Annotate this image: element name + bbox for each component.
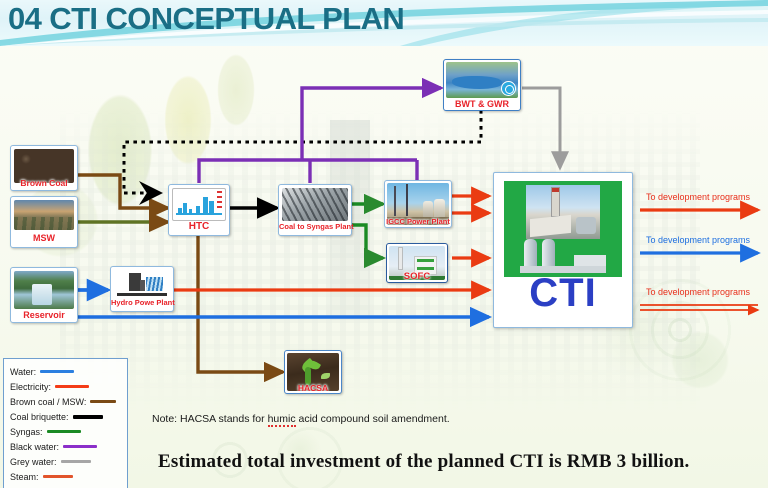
output-label-2: To development programs: [646, 235, 750, 245]
node-hydro-power-plant[interactable]: Hydro Powe Plant: [110, 266, 174, 312]
legend-item-black-water: Black water:: [10, 439, 121, 454]
node-label-hydro-power-plant: Hydro Powe Plant: [111, 298, 173, 307]
hydro-power-plant-icon: [114, 270, 170, 298]
gasifier-photo: [282, 188, 348, 221]
node-coal-to-syngas-plant[interactable]: Coal to Syngas Plant: [278, 184, 352, 236]
node-brown-coal[interactable]: Brown Coal: [10, 145, 78, 191]
legend-swatch-black-water: [63, 445, 97, 448]
water-recycle-badge-icon: [501, 81, 516, 96]
node-label-msw: MSW: [11, 233, 77, 243]
legend-swatch-water: [40, 370, 74, 373]
node-hacsa[interactable]: HACSA: [284, 350, 342, 394]
legend-swatch-syngas: [47, 430, 81, 433]
legend-label-brown-coal-msw: Brown coal / MSW:: [10, 397, 86, 407]
node-msw[interactable]: MSW: [10, 196, 78, 248]
node-reservoir[interactable]: Reservoir: [10, 267, 78, 323]
water-treatment-photo: [446, 62, 518, 98]
legend-item-brown-coal-msw: Brown coal / MSW:: [10, 394, 121, 409]
legend-label-coal-briquette: Coal briquette:: [10, 412, 69, 422]
node-sofc[interactable]: SOFC: [386, 243, 448, 283]
footnote-suffix: acid compound soil amendment.: [296, 413, 450, 425]
industrial-complex-photo: [526, 185, 600, 239]
legend-item-syngas: Syngas:: [10, 424, 121, 439]
legend-swatch-grey-water: [61, 460, 91, 463]
node-bwt-gwr[interactable]: BWT & GWR: [443, 59, 521, 111]
legend-item-grey-water: Grey water:: [10, 454, 121, 469]
node-label-reservoir: Reservoir: [11, 310, 77, 320]
reservoir-dam-photo: [14, 271, 74, 309]
node-label-igcc-power-plant: IGCC Power Plant: [385, 217, 451, 226]
legend-label-grey-water: Grey water:: [10, 457, 57, 467]
bar-chart-icon: [172, 188, 226, 221]
node-cti[interactable]: CTI: [493, 172, 633, 328]
legend-swatch-steam: [43, 475, 73, 478]
node-igcc-power-plant[interactable]: IGCC Power Plant: [384, 180, 452, 228]
municipal-solid-waste-photo: [14, 200, 74, 230]
node-label-cti: CTI: [494, 273, 632, 313]
node-label-coal-to-syngas-plant: Coal to Syngas Plant: [279, 222, 351, 231]
legend-swatch-coal-briquette: [73, 415, 103, 419]
legend-swatch-brown-coal-msw: [90, 400, 116, 403]
legend-item-steam: Steam:: [10, 469, 121, 484]
legend-label-electricity: Electricity:: [10, 382, 51, 392]
output-label-1: To development programs: [646, 192, 750, 202]
slide-canvas: 04 CTI CONCEPTUAL PLAN: [0, 0, 768, 488]
investment-statement: Estimated total investment of the planne…: [158, 451, 689, 473]
footnote: Note: HACSA stands for humic acid compou…: [152, 413, 450, 425]
legend-swatch-electricity: [55, 385, 89, 388]
node-label-sofc: SOFC: [387, 271, 447, 282]
legend-item-coal-briquette: Coal briquette:: [10, 409, 121, 424]
processing-plant-photo: [520, 239, 606, 273]
footnote-prefix: Note: HACSA stands for: [152, 413, 268, 425]
legend-label-steam: Steam:: [10, 472, 39, 482]
node-htc[interactable]: HTC: [168, 184, 230, 236]
legend-item-electricity: Electricity:: [10, 379, 121, 394]
legend-label-black-water: Black water:: [10, 442, 59, 452]
node-label-hacsa: HACSA: [285, 383, 341, 393]
node-label-htc: HTC: [169, 221, 229, 232]
output-label-3: To development programs: [646, 287, 750, 297]
legend-panel: Water: Electricity: Brown coal / MSW: Co…: [3, 358, 128, 488]
cti-green-panel: [504, 181, 622, 277]
node-label-brown-coal: Brown Coal: [11, 178, 77, 188]
legend-item-water: Water:: [10, 364, 121, 379]
node-label-bwt-gwr: BWT & GWR: [444, 99, 520, 109]
footnote-misspelled-word: humic: [268, 413, 296, 427]
legend-label-syngas: Syngas:: [10, 427, 43, 437]
legend-label-water: Water:: [10, 367, 36, 377]
